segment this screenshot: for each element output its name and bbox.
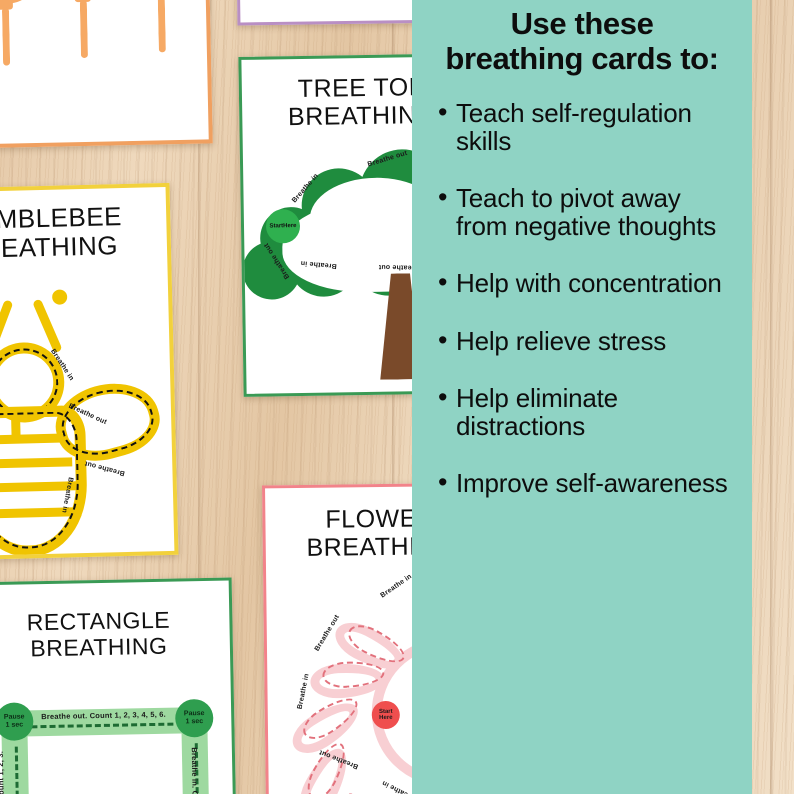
rectangle-card-title: RECTANGLE BREATHING [0, 607, 230, 664]
benefits-list: • Teach self-regulation skills • Teach t… [438, 100, 738, 528]
wood-plank-seam [770, 0, 773, 794]
bullet-marker-icon: • [438, 185, 456, 210]
balloon-breathing-card[interactable]: Breathe in Breathe out [0, 0, 213, 149]
list-item-label: Teach to pivot away from negative though… [456, 185, 738, 240]
list-item-label: Teach self-regulation skills [456, 100, 738, 155]
bullet-marker-icon: • [438, 270, 456, 295]
panel-heading: Use these breathing cards to: [412, 6, 752, 77]
list-item: • Help relieve stress [438, 328, 738, 356]
balloon-string [80, 0, 88, 58]
list-item-label: Help eliminate distractions [456, 385, 738, 440]
list-item-label: Help with concentration [456, 270, 722, 298]
list-item: • Improve self-awareness [438, 470, 738, 498]
breathe-in-label: Breathe in [297, 673, 311, 710]
balloon-string [158, 0, 166, 52]
breathe-in-label: Breathe in [379, 573, 413, 599]
list-item: • Help eliminate distractions [438, 385, 738, 440]
pause-marker-right: Pause 1 sec [175, 699, 214, 738]
bumblebee-breathing-card[interactable]: BUMBLEBEE BREATHING Start Here Breathe i… [0, 183, 179, 561]
list-item: • Teach to pivot away from negative thou… [438, 185, 738, 240]
bullet-marker-icon: • [438, 385, 456, 410]
rectangle-breathing-card[interactable]: RECTANGLE BREATHING Pause 1 sec Pause 1 … [0, 577, 236, 794]
bullet-marker-icon: • [438, 328, 456, 353]
balloon-string [2, 8, 10, 66]
list-item-label: Help relieve stress [456, 328, 666, 356]
list-item: • Help with concentration [438, 270, 738, 298]
bumblebee-card-title: BUMBLEBEE BREATHING [0, 201, 167, 265]
list-item: • Teach self-regulation skills [438, 100, 738, 155]
list-item-label: Improve self-awareness [456, 470, 728, 498]
breathe-out-label: Breathe out [84, 459, 126, 476]
bullet-marker-icon: • [438, 100, 456, 125]
bee-antenna-tip [52, 289, 67, 304]
bullet-marker-icon: • [438, 470, 456, 495]
info-panel: Use these breathing cards to: • Teach se… [412, 0, 752, 794]
start-here-marker: Start Here [372, 701, 400, 729]
screenshot-canvas: Breathe in Breathe out TREE TOP BREATHIN… [0, 0, 794, 794]
